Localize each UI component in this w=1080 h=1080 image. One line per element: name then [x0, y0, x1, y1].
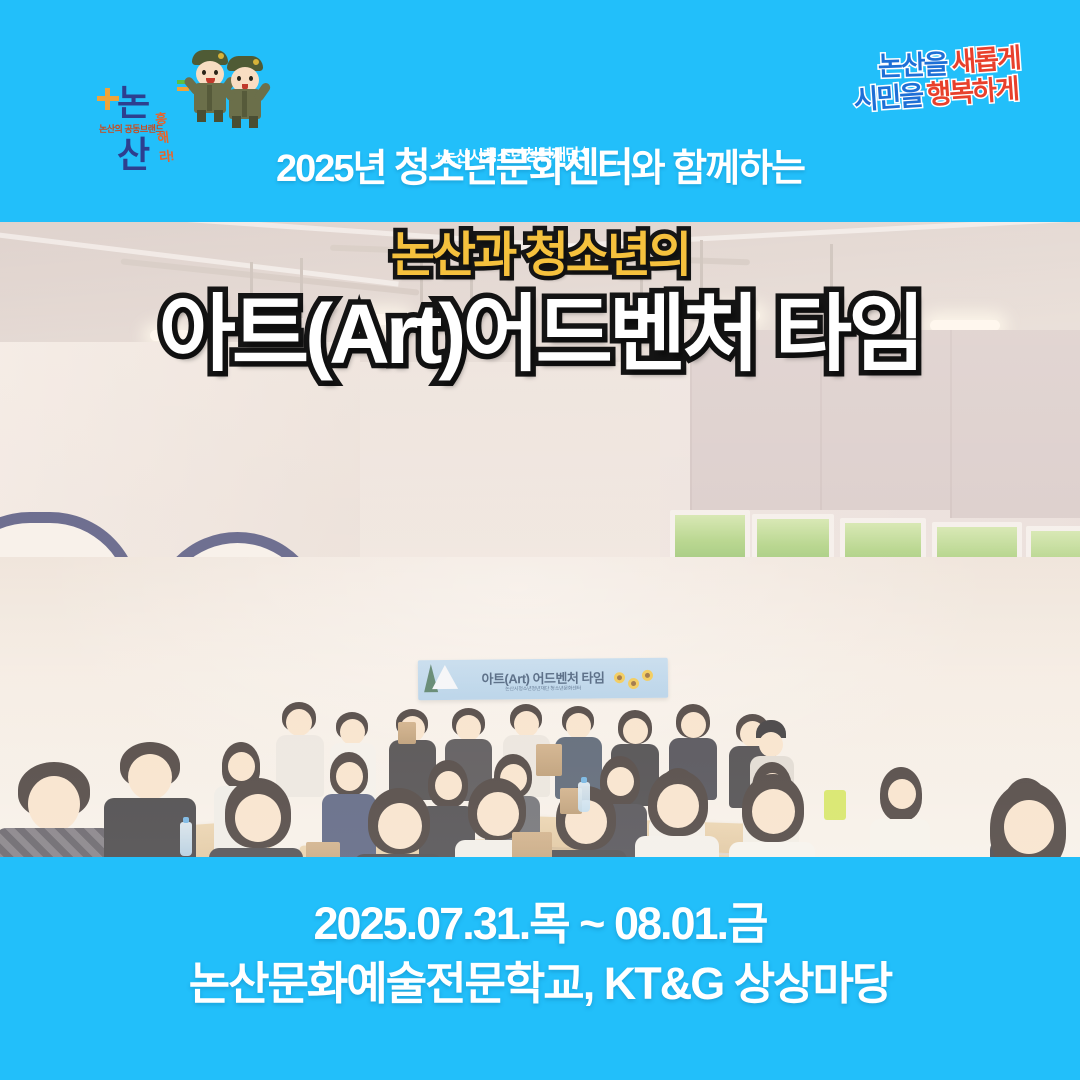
soldier-mascot-female-icon [225, 56, 265, 126]
plus-icon [97, 88, 119, 110]
nonsan-slogan: 논산을 새롭게 시민을 행복하게 [790, 52, 1020, 128]
poster-root: 아트(Art) 어드벤처 타임 논산시청소년청년재단 청소년문화센터 [0, 0, 1080, 1080]
slogan-line2-b: 행복하게 [926, 75, 1019, 110]
footer-bar: 2025.07.31.목 ~ 08.01.금 논산문화예술전문학교, KT&G … [0, 857, 1080, 1080]
event-place: 논산문화예술전문학교, KT&G 상상마당 [0, 959, 1080, 1009]
event-banner: 아트(Art) 어드벤처 타임 논산시청소년청년재단 청소년문화센터 [418, 658, 668, 701]
header-bar: 논산 흥해라! 논산의 공동브랜드 [0, 0, 1080, 222]
brand-subtitle: 논산의 공동브랜드 [99, 122, 163, 135]
sparkle-icon: ✦ [579, 144, 589, 159]
title-subtitle: 논산과 청소년의 [0, 232, 1080, 280]
header-headline-wrap: +논산시청소년청년재단✦ 2025년 청소년문화센터와 함께하는 [0, 148, 1080, 188]
nonsan-city-brand-logo: 논산 흥해라! 논산의 공동브랜드 [95, 42, 275, 130]
slogan-line1-b: 새롭게 [950, 44, 1020, 77]
slogan-line1-a: 논산을 [878, 50, 947, 81]
poster-title-block: 논산과 청소년의 아트(Art)어드벤처 타임 [0, 232, 1080, 376]
foundation-name: 논산시청소년청년재단 [442, 147, 579, 166]
banner-subtitle: 논산시청소년청년재단 청소년문화센터 [418, 684, 668, 694]
slogan-line2-a: 시민을 [853, 82, 923, 115]
event-date: 2025.07.31.목 ~ 08.01.금 [0, 899, 1080, 949]
page-title: 아트(Art)어드벤처 타임 [0, 292, 1080, 376]
